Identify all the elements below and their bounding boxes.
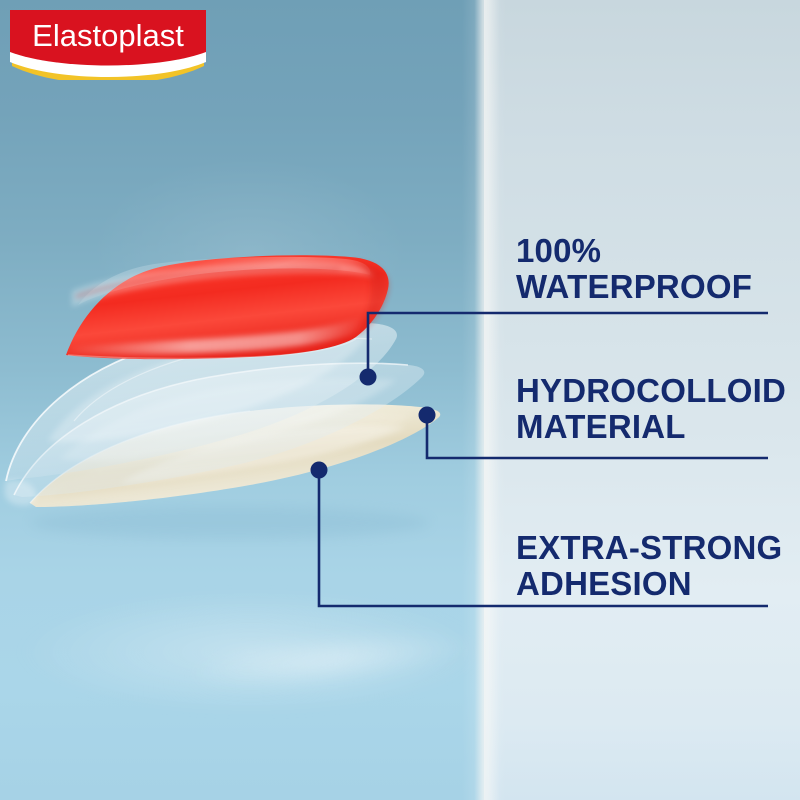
callout-label-adhesion: EXTRA-STRONG ADHESION <box>516 530 782 603</box>
product-feature-graphic: Elastoplast <box>0 0 800 800</box>
callout-label-hydrocolloid: HYDROCOLLOID MATERIAL <box>516 373 786 446</box>
red-backing-layer <box>66 255 389 359</box>
callout-label-waterproof: 100% WATERPROOF <box>516 233 752 306</box>
product-illustration <box>0 245 470 535</box>
logo-wordmark: Elastoplast <box>32 18 184 53</box>
elastoplast-logo[interactable]: Elastoplast <box>10 10 206 80</box>
product-shadow <box>30 507 430 539</box>
